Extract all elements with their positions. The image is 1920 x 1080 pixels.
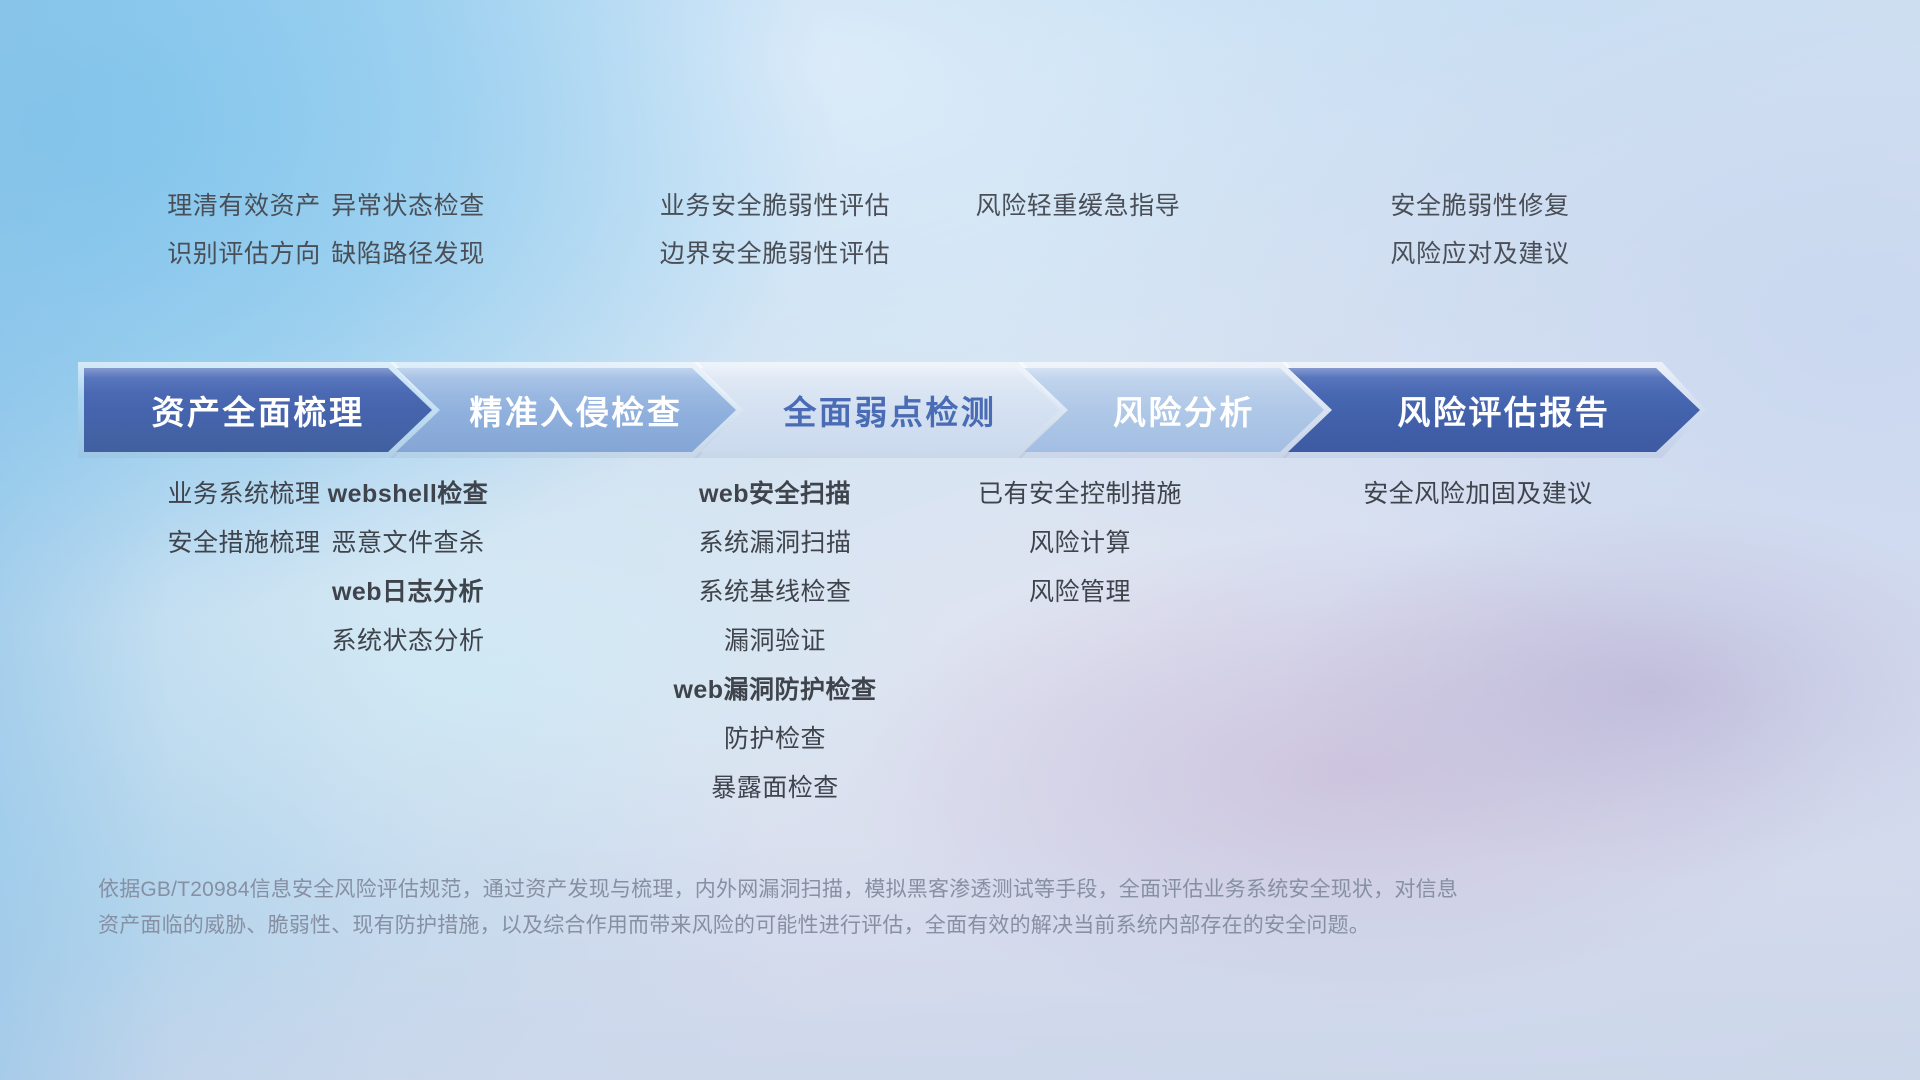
footer-line-2: 资产面临的威胁、脆弱性、现有防护措施，以及综合作用而带来风险的可能性进行评估，全… [98,908,1658,944]
footer-description: 依据GB/T20984信息安全风险评估规范，通过资产发现与梳理，内外网漏洞扫描，… [98,872,1658,944]
bottom-caption-text: 系统状态分析 [331,617,484,666]
process-arrow-intrusion-check[interactable]: 精准入侵检查 [396,368,736,452]
bottom-caption-text: 恶意文件查杀 [331,519,484,568]
arrow-label-weakness-detection: 全面弱点检测 [783,386,996,434]
bottom-caption-text: 已有安全控制措施 [978,470,1182,519]
top-caption-column-intrusion-check: 异常状态检查缺陷路径发现 [238,186,578,274]
top-caption-text: 缺陷路径发现 [331,234,485,274]
bottom-caption-text: web漏洞防护检查 [673,666,876,715]
bottom-caption-text: webshell检查 [328,470,489,519]
arrow-label-risk-analysis: 风险分析 [1113,386,1255,434]
top-caption-text: 异常状态检查 [331,186,485,226]
process-arrow-weakness-detection[interactable]: 全面弱点检测 [700,368,1060,452]
bottom-caption-text: 系统漏洞扫描 [698,519,851,568]
top-caption-text: 业务安全脆弱性评估 [660,186,890,226]
bottom-caption-text: 安全风险加固及建议 [1363,470,1593,519]
footer-line-1: 依据GB/T20984信息安全风险评估规范，通过资产发现与梳理，内外网漏洞扫描，… [98,872,1658,908]
top-caption-column-risk-analysis: 风险轻重缓急指导 [928,186,1228,226]
top-caption-row: 理清有效资产识别评估方向异常状态检查缺陷路径发现业务安全脆弱性评估边界安全脆弱性… [0,186,1920,296]
bottom-caption-text: 风险计算 [1029,519,1131,568]
top-caption-text: 风险轻重缓急指导 [976,186,1181,226]
top-caption-text: 风险应对及建议 [1390,234,1569,274]
top-caption-text: 安全脆弱性修复 [1390,186,1569,226]
bottom-caption-text: 风险管理 [1029,568,1131,617]
process-arrow-risk-report[interactable]: 风险评估报告 [1288,368,1700,452]
bottom-caption-text: web安全扫描 [699,470,851,519]
arrow-label-intrusion-check: 精准入侵检查 [469,386,682,434]
process-arrow-band: 资产全面梳理精准入侵检查全面弱点检测风险分析风险评估报告 [84,368,1844,452]
bottom-caption-text: web日志分析 [332,568,484,617]
arrow-label-asset-inventory: 资产全面梳理 [152,386,365,434]
bottom-caption-text: 暴露面检查 [711,764,839,813]
bottom-caption-column-risk-report: 安全风险加固及建议 [1268,470,1688,519]
bottom-caption-text: 漏洞验证 [724,617,826,666]
bottom-caption-text: 系统基线检查 [698,568,851,617]
bottom-caption-column-weakness-detection: web安全扫描系统漏洞扫描系统基线检查漏洞验证web漏洞防护检查防护检查暴露面检… [590,470,960,813]
bottom-caption-text: 防护检查 [724,715,826,764]
top-caption-column-risk-report: 安全脆弱性修复风险应对及建议 [1270,186,1690,274]
top-caption-text: 边界安全脆弱性评估 [660,234,890,274]
process-arrow-asset-inventory[interactable]: 资产全面梳理 [84,368,432,452]
arrow-label-risk-report: 风险评估报告 [1397,386,1610,434]
process-arrow-risk-analysis[interactable]: 风险分析 [1024,368,1324,452]
bottom-caption-column-risk-analysis: 已有安全控制措施风险计算风险管理 [930,470,1230,617]
top-caption-column-weakness-detection: 业务安全脆弱性评估边界安全脆弱性评估 [590,186,960,274]
slide-canvas: 理清有效资产识别评估方向异常状态检查缺陷路径发现业务安全脆弱性评估边界安全脆弱性… [0,0,1920,1080]
bottom-caption-column-intrusion-check: webshell检查恶意文件查杀web日志分析系统状态分析 [238,470,578,666]
